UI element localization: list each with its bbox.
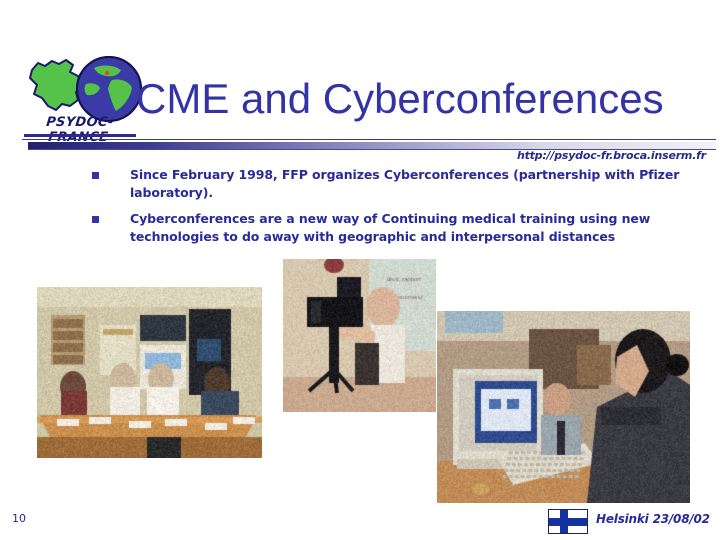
list-item: Cyberconferences are a new way of Contin… — [92, 210, 692, 246]
flag-cross-horizontal — [549, 518, 587, 526]
footer-location-date: Helsinki 23/08/02 — [596, 512, 710, 526]
square-bullet-icon — [92, 216, 99, 223]
square-bullet-icon — [92, 172, 99, 179]
globe-icon — [74, 54, 144, 124]
photo-meeting-room — [37, 287, 262, 458]
header-rule-thin — [22, 139, 716, 140]
photo-cameraman — [283, 259, 436, 412]
list-item: Since February 1998, FFP organizes Cyber… — [92, 166, 692, 202]
list-item-text: Since February 1998, FFP organizes Cyber… — [130, 167, 679, 200]
finland-flag-icon — [548, 509, 588, 534]
psydoc-france-logo: PSYDOC-FRANCE — [18, 52, 140, 140]
photo-workstation — [437, 311, 690, 503]
logo-underline — [24, 134, 136, 137]
slide-header: PSYDOC-FRANCE CME and Cyberconferences h… — [0, 0, 720, 150]
logo-wordmark: PSYDOC-FRANCE — [16, 115, 141, 145]
page-number: 10 — [12, 512, 26, 525]
page-title: CME and Cyberconferences — [136, 76, 706, 122]
list-item-text: Cyberconferences are a new way of Contin… — [130, 211, 650, 244]
header-rule-bar — [28, 142, 716, 149]
footer-location: Helsinki 23/08/02 — [548, 509, 698, 533]
bullet-list: Since February 1998, FFP organizes Cyber… — [92, 166, 692, 254]
site-url: http://psydoc-fr.broca.inserm.fr — [517, 149, 706, 162]
